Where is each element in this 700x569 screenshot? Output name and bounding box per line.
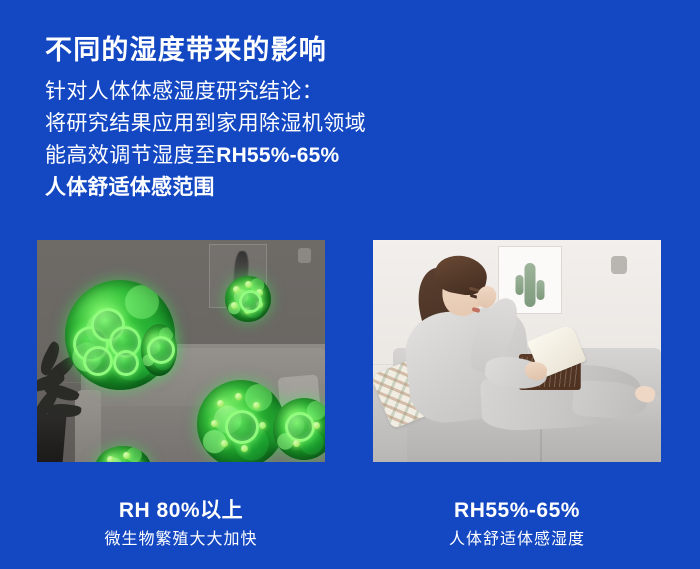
caption-high-humidity: RH 80%以上 微生物繁殖大大加快 <box>37 498 325 550</box>
caption-comfort-humidity: RH55%-65% 人体舒适体感湿度 <box>373 498 661 550</box>
microbe-blob-bottom-right <box>197 380 285 462</box>
caption-title: RH 80%以上 <box>37 498 325 524</box>
bright-room-scene <box>373 240 661 462</box>
caption-title: RH55%-65% <box>373 498 661 524</box>
page-title: 不同的湿度带来的影响 <box>45 34 327 68</box>
wall-speaker-icon <box>298 248 311 263</box>
microbe-blob-bottom-left <box>95 446 151 462</box>
intro-line-3-range: RH55%-65% <box>216 144 339 167</box>
humidity-infographic-poster: 不同的湿度带来的影响 针对人体体感湿度研究结论： 将研究结果应用到家用除湿机领域… <box>0 0 700 569</box>
caption-subtitle: 微生物繁殖大大加快 <box>37 530 325 550</box>
intro-line-4: 人体舒适体感范围 <box>45 172 366 204</box>
photo-comfort-humidity <box>373 240 661 462</box>
dark-room-scene <box>37 240 325 462</box>
woman-reading-figure <box>373 240 661 462</box>
intro-line-3: 能高效调节湿度至RH55%-65% <box>45 140 366 172</box>
microbe-blob-mid-right <box>141 324 177 376</box>
microbe-blob-small-top <box>225 276 271 322</box>
microbe-blob-edge-right <box>273 398 325 460</box>
intro-line-2: 将研究结果应用到家用除湿机领域 <box>45 108 366 140</box>
intro-paragraph: 针对人体体感湿度研究结论： 将研究结果应用到家用除湿机领域 能高效调节湿度至RH… <box>45 76 366 204</box>
photo-high-humidity <box>37 240 325 462</box>
intro-line-1: 针对人体体感湿度研究结论： <box>45 76 366 108</box>
intro-line-3-text: 能高效调节湿度至 <box>45 144 216 167</box>
caption-subtitle: 人体舒适体感湿度 <box>373 530 661 550</box>
